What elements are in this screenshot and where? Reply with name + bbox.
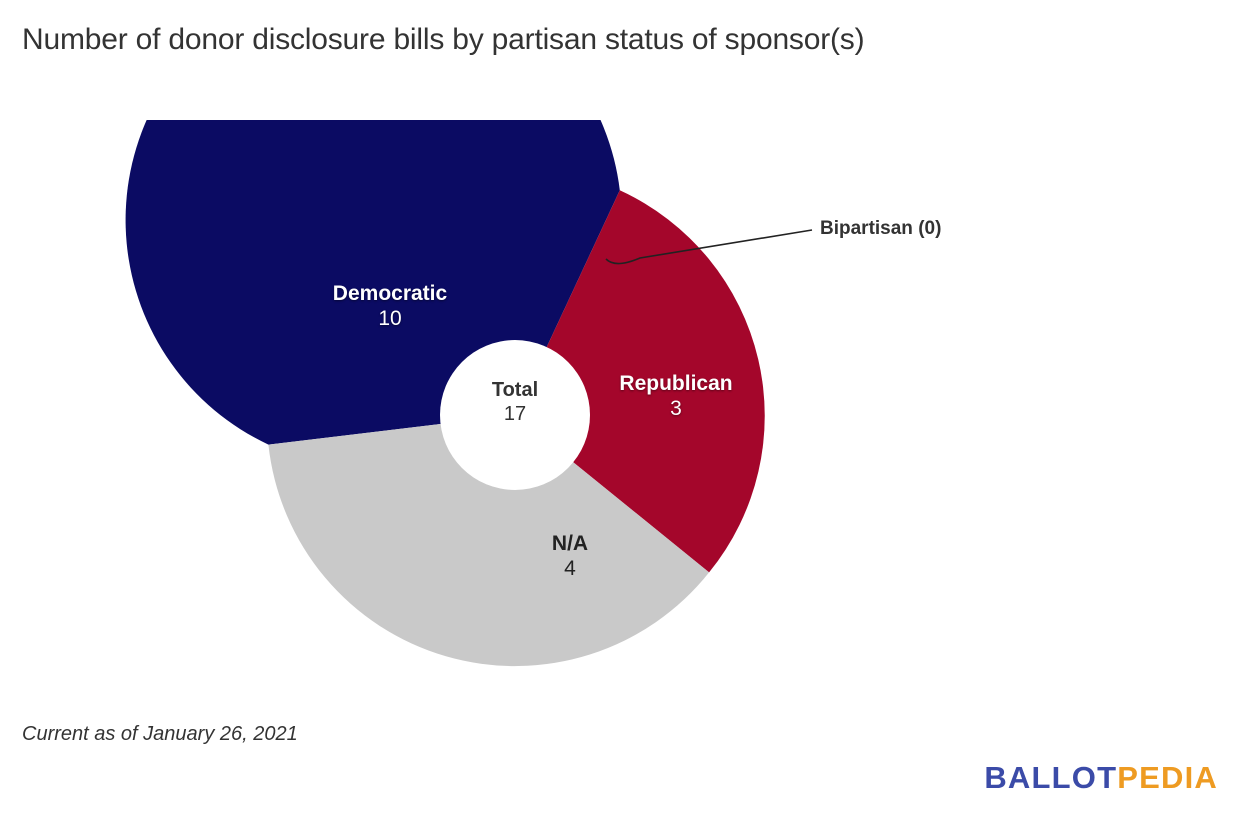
donut-center-hole <box>440 340 590 490</box>
footnote-current-as-of: Current as of January 26, 2021 <box>22 723 298 746</box>
chart-page: Number of donor disclosure bills by part… <box>0 0 1240 840</box>
plot-area: Democratic 10 Republican 3 N/A 4 Total 1… <box>0 120 1240 700</box>
logo-text-pedia: PEDIA <box>1117 760 1218 795</box>
donut-chart <box>0 120 1240 700</box>
ballotpedia-logo: BALLOTPEDIA <box>984 760 1218 796</box>
callout-label-bipartisan: Bipartisan (0) <box>820 218 941 240</box>
page-title: Number of donor disclosure bills by part… <box>22 22 1172 58</box>
logo-text-ballot: BALLOT <box>984 760 1117 795</box>
